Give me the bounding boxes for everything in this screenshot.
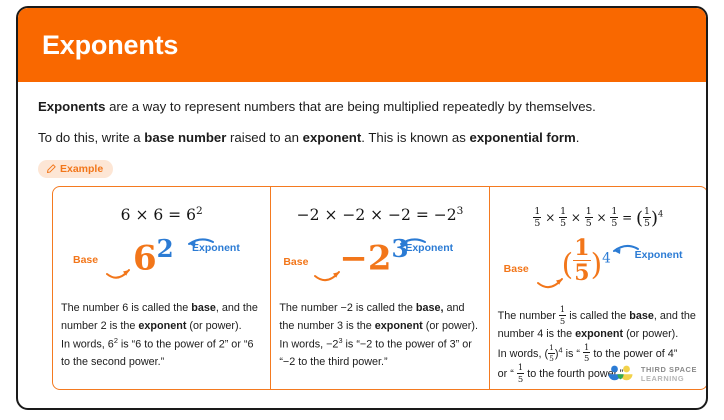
example-2-arrows bbox=[279, 228, 484, 296]
ex2-d2a: In words, −2 bbox=[279, 339, 338, 351]
ex3-d1b: is called the bbox=[566, 310, 629, 322]
lesson-card: Exponents Exponents are a way to represe… bbox=[16, 6, 708, 410]
intro-line2-d: . bbox=[576, 130, 580, 145]
intro-body: Exponents are a way to represent numbers… bbox=[18, 82, 706, 186]
example-1-description: The number 6 is called the base, and the… bbox=[61, 300, 262, 372]
example-1-equation: 6 × 6 = 62 bbox=[61, 205, 262, 224]
intro-bold-exponent: exponent bbox=[303, 130, 362, 145]
example-1-diagram: 62 Base Exponent bbox=[61, 228, 262, 296]
example-panel-3: 15 × 15 × 15 × 15 = (15)4 (15)4 Base Exp… bbox=[489, 187, 707, 389]
example-1-arrows bbox=[61, 228, 270, 296]
examples-container: 6 × 6 = 62 62 Base Exponent The number 6… bbox=[52, 186, 708, 390]
example-panel-1: 6 × 6 = 62 62 Base Exponent The number 6… bbox=[53, 187, 270, 389]
example-2-diagram: −23 Base Exponent bbox=[279, 228, 480, 296]
intro-bold-exponential-form: exponential form bbox=[469, 130, 575, 145]
example-badge: Example bbox=[38, 160, 113, 178]
intro-paragraph-1: Exponents are a way to represent numbers… bbox=[38, 98, 686, 116]
ex3-d2d: to the power of 4” bbox=[590, 348, 677, 360]
ex3-d1c: base bbox=[629, 310, 654, 322]
intro-line2-c: . This is known as bbox=[361, 130, 469, 145]
ex2-d1e: (or power). bbox=[423, 320, 478, 332]
intro-bold-base-number: base number bbox=[144, 130, 226, 145]
ex1-d1b: base bbox=[191, 302, 216, 314]
ex3-d1e: exponent bbox=[575, 328, 623, 340]
logo-line-2: LEARNING bbox=[641, 374, 697, 383]
intro-bold-exponents: Exponents bbox=[38, 99, 105, 114]
ex2-d1d: exponent bbox=[375, 320, 423, 332]
ex2-d1a: The number −2 is called the bbox=[279, 302, 416, 314]
ex3-d1a: The number bbox=[498, 310, 559, 322]
ex3-d3a: or “ bbox=[498, 368, 517, 380]
example-3-arrows bbox=[498, 233, 707, 301]
example-2-equation: −2 × −2 × −2 = −23 bbox=[279, 205, 480, 224]
ex1-d1a: The number 6 is called the bbox=[61, 302, 191, 314]
intro-line2-a: To do this, write a bbox=[38, 130, 144, 145]
example-2-description: The number −2 is called the base, and th… bbox=[279, 300, 480, 372]
third-space-learning-logo: THIRD SPACE LEARNING bbox=[606, 365, 697, 384]
pencil-icon bbox=[46, 164, 56, 174]
ex1-d1e: (or power). bbox=[186, 320, 241, 332]
logo-line-1: THIRD SPACE bbox=[641, 365, 697, 374]
example-panel-2: −2 × −2 × −2 = −23 −23 Base Exponent The… bbox=[270, 187, 488, 389]
logo-mark-icon bbox=[606, 365, 636, 382]
example-badge-label: Example bbox=[60, 163, 103, 175]
intro-line2-b: raised to an bbox=[226, 130, 302, 145]
logo-text: THIRD SPACE LEARNING bbox=[641, 365, 697, 384]
page-header: Exponents bbox=[18, 8, 706, 82]
page-title: Exponents bbox=[42, 30, 178, 61]
ex1-d2a: In words, 6 bbox=[61, 339, 114, 351]
ex2-d1b: base, bbox=[416, 302, 444, 314]
example-3-equation: 15 × 15 × 15 × 15 = (15)4 bbox=[498, 207, 699, 229]
intro-paragraph-2: To do this, write a base number raised t… bbox=[38, 129, 686, 147]
example-3-diagram: (15)4 Base Exponent bbox=[498, 233, 699, 301]
intro-line1-text: are a way to represent numbers that are … bbox=[105, 99, 595, 114]
ex3-d2c: is “ bbox=[563, 348, 583, 360]
ex3-d2a: In words, ( bbox=[498, 348, 548, 360]
ex3-d1f: (or power). bbox=[623, 328, 678, 340]
ex1-d1d: exponent bbox=[138, 320, 186, 332]
